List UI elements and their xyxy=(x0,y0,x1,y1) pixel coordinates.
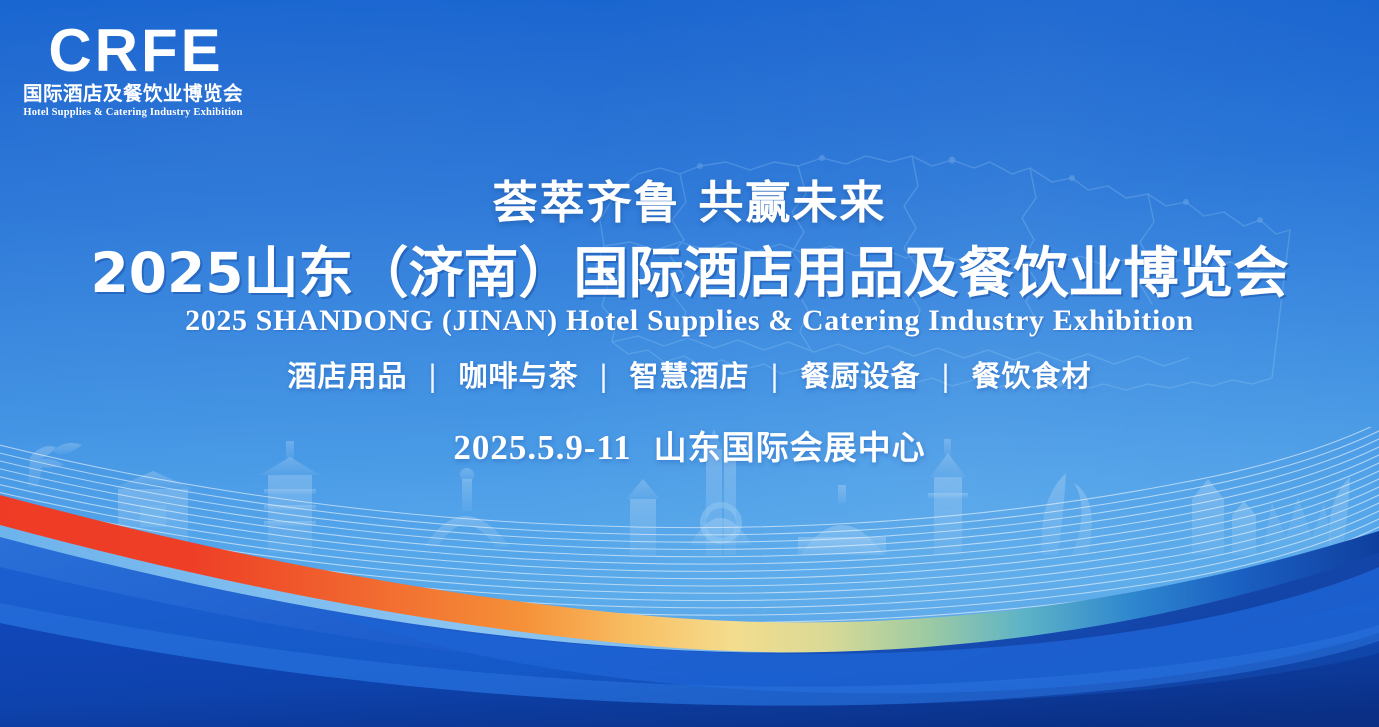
category-item-1: 咖啡与茶 xyxy=(458,359,578,393)
title-english: 2025 SHANDONG (JINAN) Hotel Supplies & C… xyxy=(0,304,1379,337)
headline-block: 荟萃齐鲁 共赢未来 2025山东（济南）国际酒店用品及餐饮业博览会 2025 S… xyxy=(0,178,1379,467)
logo-wordmark: CRFE xyxy=(24,22,248,81)
event-date: 2025.5.9-11 xyxy=(453,428,631,467)
category-separator-2: | xyxy=(761,359,790,393)
crfe-logo: CRFE 国际酒店及餐饮业博览会 Hotel Supplies & Cateri… xyxy=(18,22,248,118)
slogan-text: 荟萃齐鲁 共赢未来 xyxy=(0,178,1379,228)
exhibition-poster: CRFE 国际酒店及餐饮业博览会 Hotel Supplies & Cateri… xyxy=(0,0,1379,727)
category-separator-0: | xyxy=(419,359,448,393)
category-separator-1: | xyxy=(590,359,619,393)
title-chinese: 2025山东（济南）国际酒店用品及餐饮业博览会 xyxy=(0,244,1379,302)
bottom-artwork xyxy=(0,427,1379,727)
category-item-3: 餐厨设备 xyxy=(801,359,921,393)
logo-english-name: Hotel Supplies & Catering Industry Exhib… xyxy=(18,107,248,118)
event-venue: 山东国际会展中心 xyxy=(654,428,926,467)
category-item-4: 餐饮食材 xyxy=(972,359,1092,393)
logo-chinese-name: 国际酒店及餐饮业博览会 xyxy=(18,83,248,105)
category-separator-3: | xyxy=(932,359,961,393)
category-item-0: 酒店用品 xyxy=(287,359,407,393)
category-list: 酒店用品 | 咖啡与茶 | 智慧酒店 | 餐厨设备 | 餐饮食材 xyxy=(0,361,1379,393)
category-item-2: 智慧酒店 xyxy=(629,359,749,393)
event-datetime-venue: 2025.5.9-11山东国际会展中心 xyxy=(0,429,1379,468)
